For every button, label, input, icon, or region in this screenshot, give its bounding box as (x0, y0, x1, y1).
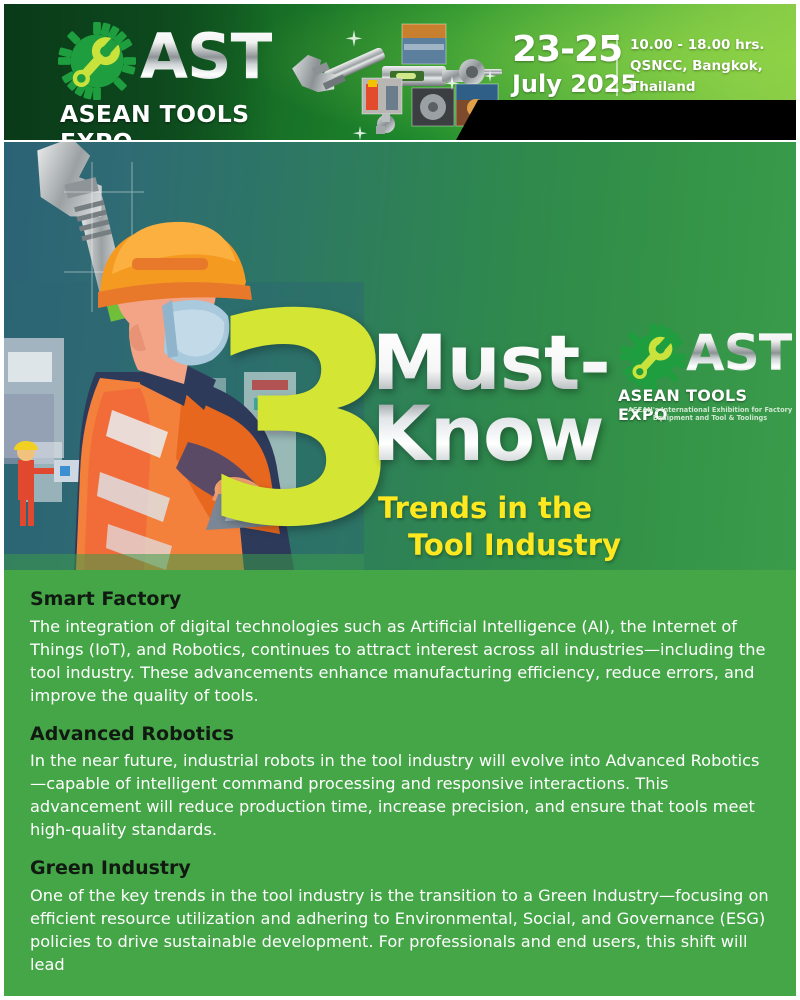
trend-body: One of the key trends in the tool indust… (30, 884, 770, 976)
hero-headline-line2: Know (372, 399, 610, 470)
trend-section-advanced-robotics: Advanced Robotics In the near future, in… (30, 721, 770, 842)
ast-logo-header: AST ASEAN TOOLS EXPO (48, 20, 298, 130)
gear-icon (620, 324, 686, 390)
trends-content-section: Smart Factory The integration of digital… (4, 570, 796, 996)
hero-banner: 3 Must- Know Trends in the Tool Industry… (4, 142, 796, 570)
trend-title: Advanced Robotics (30, 721, 770, 749)
ast-logo-hero: AST ASEAN TOOLS EXPO ASEAN's Internation… (612, 324, 796, 420)
event-hours: 10.00 - 18.00 hrs. (630, 35, 765, 56)
ast-logo-tagline: ASEAN's International Exhibition for Fac… (622, 406, 796, 422)
trend-section-smart-factory: Smart Factory The integration of digital… (30, 586, 770, 707)
ast-logo-subtitle: ASEAN TOOLS EXPO (60, 100, 298, 140)
trend-body: The integration of digital technologies … (30, 615, 770, 707)
hero-subheadline: Trends in the Tool Industry (378, 490, 621, 564)
gear-icon (58, 22, 136, 100)
trend-body: In the near future, industrial robots in… (30, 749, 770, 841)
header-black-accent-band (456, 100, 796, 140)
trend-title: Smart Factory (30, 586, 770, 614)
trend-section-green-industry: Green Industry One of the key trends in … (30, 855, 770, 976)
ast-wordmark: AST (686, 328, 792, 378)
hero-subheadline-line2: Tool Industry (378, 527, 621, 564)
event-venue-info: 10.00 - 18.00 hrs. QSNCC, Bangkok, Thail… (630, 35, 765, 98)
event-venue-city: QSNCC, Bangkok, (630, 56, 765, 77)
event-country: Thailand (630, 77, 765, 98)
hero-subheadline-line1: Trends in the (378, 491, 592, 525)
header-divider (616, 34, 618, 96)
event-month-year: July 2025 (512, 72, 637, 96)
ast-wordmark: AST (140, 26, 272, 88)
event-header-bar: AST ASEAN TOOLS EXPO (4, 4, 796, 140)
hero-headline: Must- Know (372, 328, 610, 469)
trend-title: Green Industry (30, 855, 770, 883)
event-date-range: 23-25 (512, 32, 637, 68)
poster-page: AST ASEAN TOOLS EXPO (0, 0, 800, 1000)
event-dates: 23-25 July 2025 (512, 32, 637, 96)
